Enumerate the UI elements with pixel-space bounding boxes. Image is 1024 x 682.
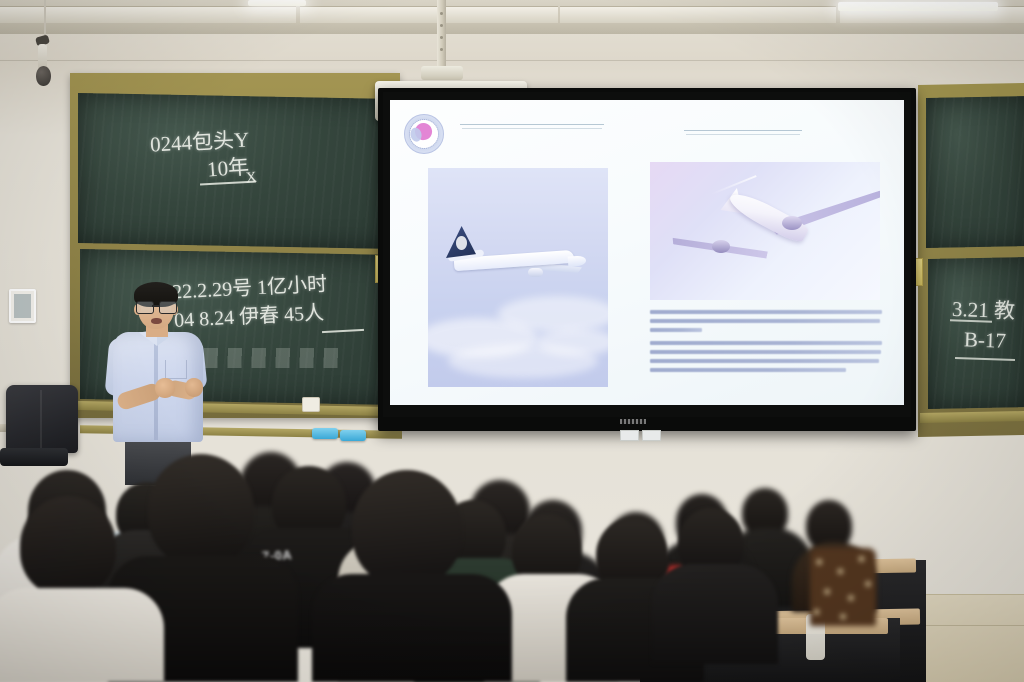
microphone-icon — [36, 66, 51, 86]
university-roundel-logo-icon — [404, 114, 444, 154]
board-eraser[interactable] — [312, 428, 338, 439]
fluorescent-light-icon — [248, 0, 306, 6]
blackboard-right-upper-slate — [926, 96, 1024, 248]
display-brand-mark — [620, 419, 646, 424]
projector-mount-pole — [437, 0, 446, 70]
presentation-slide — [390, 100, 904, 405]
fluorescent-light-icon — [838, 2, 998, 11]
instructor-shirt-pocket — [165, 360, 187, 379]
chalk-text-line: B-17 — [964, 327, 1007, 353]
classroom-photo: 0244包头Y 10年 X 2022.2.29号 1亿小时 04 8.24 伊春… — [0, 0, 1024, 682]
projector-mount-plate — [421, 66, 463, 80]
ceiling-rail — [560, 6, 836, 23]
slide-header-rule — [462, 128, 602, 129]
slide-header-rule — [686, 134, 800, 135]
slide-image-airliner-cruising — [428, 168, 608, 387]
slide-header-rule — [684, 130, 802, 131]
display-button[interactable] — [620, 430, 639, 441]
display-button[interactable] — [642, 430, 661, 441]
office-chair-seat[interactable] — [0, 448, 68, 466]
ceiling-rail — [300, 6, 558, 23]
instructor — [105, 282, 210, 482]
slide-header-rule — [460, 124, 604, 125]
instructor-right-hand — [185, 378, 203, 397]
board-eraser[interactable] — [340, 430, 366, 441]
slide-image-airliner-climbing — [650, 162, 880, 300]
wall-control-panel[interactable] — [9, 289, 36, 323]
instructor-mouth — [151, 318, 162, 324]
slide-body-text — [650, 310, 882, 377]
chalk-text-line: X — [245, 169, 258, 187]
chalk-tray-right — [920, 411, 1024, 423]
wall-seam — [0, 60, 1024, 61]
office-chair[interactable] — [6, 385, 78, 453]
monogram-bag[interactable] — [810, 548, 876, 626]
eyeglasses-icon — [136, 301, 176, 312]
chalk-text-line: 10年 — [206, 151, 250, 184]
wall-outlet — [302, 397, 320, 412]
chair-seam — [40, 390, 42, 448]
instructor-left-hand — [155, 378, 175, 398]
